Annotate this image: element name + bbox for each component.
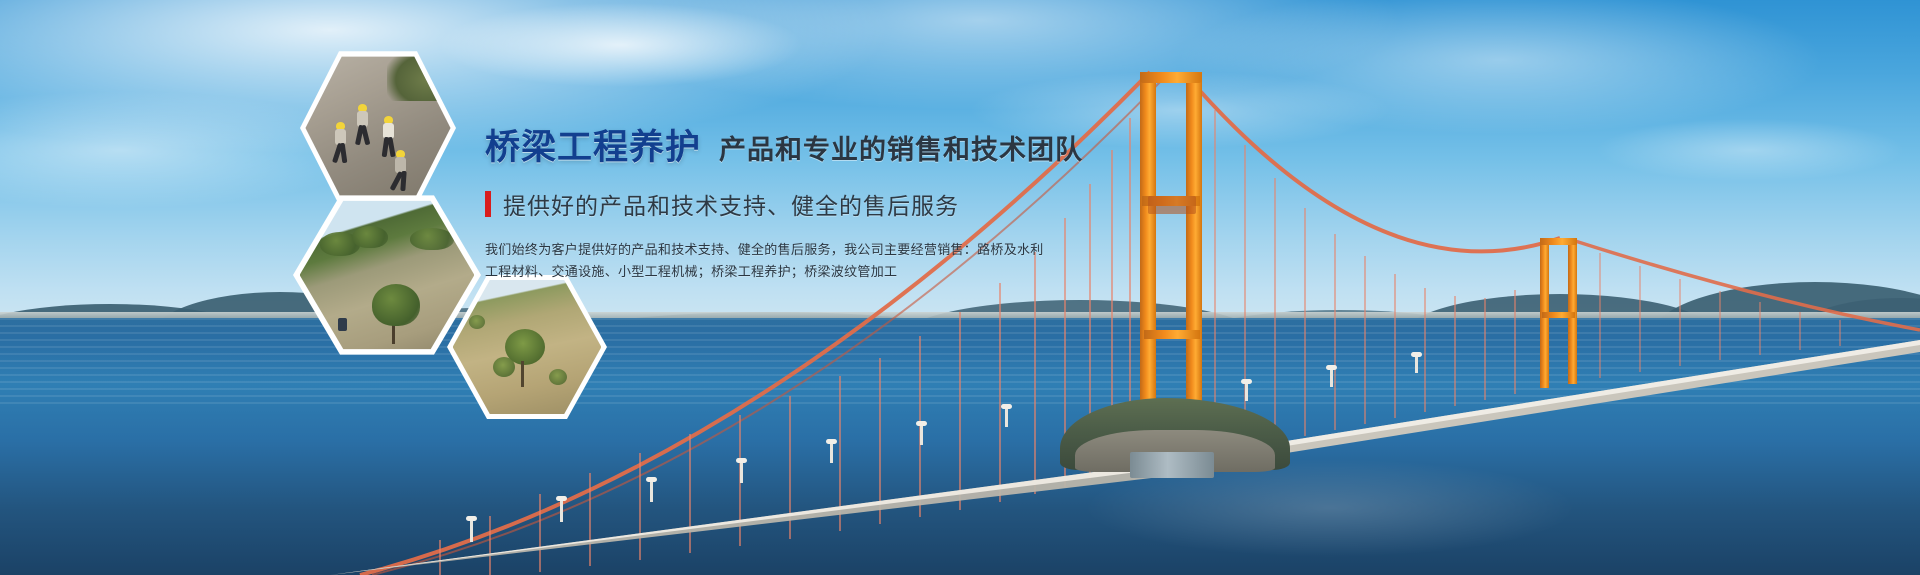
- bridge-illustration: [0, 0, 1920, 575]
- deck-lamp: [1245, 383, 1248, 401]
- headline-main: 桥梁工程养护: [485, 125, 701, 171]
- deck-lamp: [560, 500, 563, 522]
- deck-lamp: [1415, 356, 1418, 373]
- bridge-tower2-right-leg: [1568, 238, 1577, 384]
- deck-lamp: [650, 481, 653, 502]
- description-line-2: 工程材料、交通设施、小型工程机械；桥梁工程养护；桥梁波纹管加工: [485, 261, 1245, 283]
- bridge-tower2-top-beam: [1540, 238, 1577, 245]
- subline-row: 提供好的产品和技术支持、健全的售后服务: [485, 189, 1245, 219]
- deck-lamp: [830, 443, 833, 463]
- hero-banner: 桥梁工程养护 产品和专业的销售和技术团队 提供好的产品和技术支持、健全的售后服务…: [0, 0, 1920, 575]
- bridge-tower-top-beam: [1140, 72, 1202, 83]
- hex-photo-dry-slope[interactable]: [447, 272, 607, 422]
- subline-text: 提供好的产品和技术支持、健全的售后服务: [503, 187, 959, 221]
- banner-copy: 桥梁工程养护 产品和专业的销售和技术团队 提供好的产品和技术支持、健全的售后服务…: [485, 125, 1245, 283]
- deck-lamp: [920, 425, 923, 445]
- deck-lamp: [740, 462, 743, 483]
- photo-dry-slope-image: [453, 277, 602, 417]
- description-line-1: 我们始终为客户提供好的产品和技术支持、健全的售后服务，我公司主要经营销售：路桥及…: [485, 239, 1245, 261]
- accent-bar: [485, 191, 491, 217]
- bridge-tower2-mid-beam: [1542, 312, 1575, 318]
- headline-row: 桥梁工程养护 产品和专业的销售和技术团队: [485, 125, 1245, 171]
- deck-lamp: [1005, 408, 1008, 427]
- bridge-pier: [1130, 452, 1214, 478]
- photo-rock-slope-image: [305, 54, 450, 203]
- headline-sub: 产品和专业的销售和技术团队: [719, 127, 1083, 173]
- bridge-tower-lower-beam: [1144, 330, 1200, 339]
- deck-lamp: [1330, 369, 1333, 387]
- bridge-cables: [0, 0, 1920, 575]
- deck-lamp: [470, 520, 473, 542]
- hex-photo-rock-slope[interactable]: [300, 48, 456, 208]
- description-paragraph: 我们始终为客户提供好的产品和技术支持、健全的售后服务，我公司主要经营销售：路桥及…: [485, 239, 1245, 283]
